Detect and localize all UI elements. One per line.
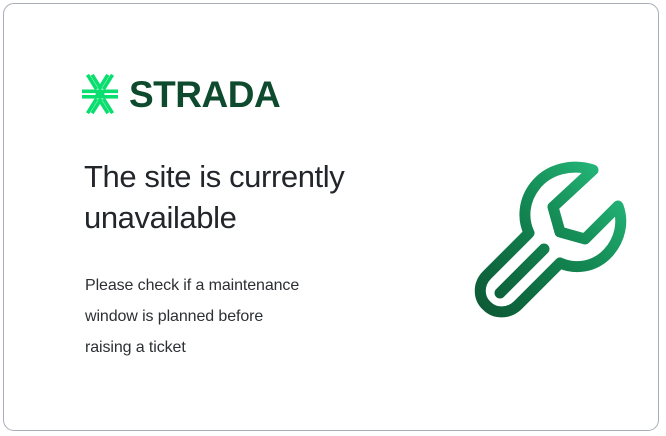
message-body-line-3: raising a ticket [85,332,395,363]
maintenance-notice-card: STRADA The site is currently unavailable… [3,3,659,431]
message-body-line-2: window is planned before [85,301,395,332]
message-body-line-1: Please check if a maintenance [85,270,395,301]
strada-logo-mark [82,74,118,114]
page-title: The site is currently unavailable [84,157,414,239]
wrench-icon [456,154,624,320]
wrench-illustration [456,154,624,320]
message-body: Please check if a maintenance window is … [85,270,395,363]
strada-wordmark: STRADA [129,76,280,113]
six-point-asterisk-star-icon [82,74,118,114]
brand-lockup: STRADA [82,74,280,114]
